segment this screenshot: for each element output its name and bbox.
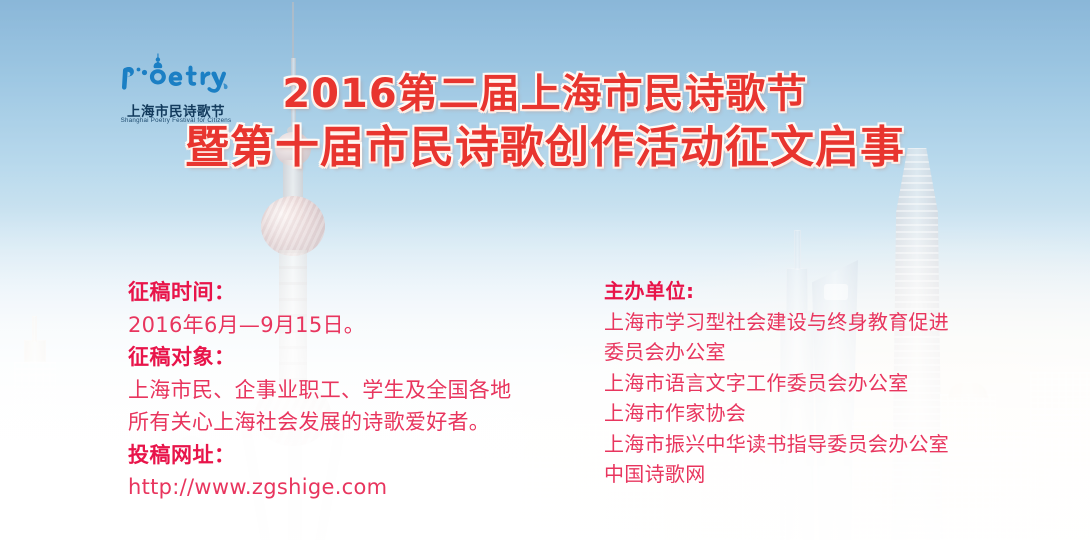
organizers-heading: 主办单位:: [604, 276, 1054, 307]
submission-info-column: 征稿时间： 2016年6月—9月15日。 征稿对象： 上海市民、企事业职工、学生…: [128, 276, 558, 504]
submission-period-value: 2016年6月—9月15日。: [128, 309, 558, 342]
organizer-line: 委员会办公室: [604, 337, 1054, 367]
title-line-2: 暨第十届市民诗歌创作活动征文启事: [0, 123, 1090, 172]
submission-period-heading: 征稿时间：: [128, 276, 558, 309]
title-line-1: 2016第二届上海市民诗歌节: [0, 72, 1090, 117]
organizer-line: 上海市学习型社会建设与终身教育促进: [604, 307, 1054, 337]
submission-audience-line-1: 上海市民、企事业职工、学生及全国各地: [128, 374, 558, 407]
submission-audience-heading: 征稿对象：: [128, 341, 558, 374]
poster-canvas: 上海市民诗歌节 Shanghai Poetry Festival for Cit…: [0, 0, 1090, 540]
submission-audience-line-2: 所有关心上海社会发展的诗歌爱好者。: [128, 406, 558, 439]
organizers-column: 主办单位: 上海市学习型社会建设与终身教育促进 委员会办公室 上海市语言文字工作…: [604, 276, 1054, 489]
submission-website-heading: 投稿网址：: [128, 439, 558, 472]
organizer-line: 中国诗歌网: [604, 459, 1054, 489]
submission-website-url[interactable]: http://www.zgshige.com: [128, 471, 558, 504]
poster-title: 2016第二届上海市民诗歌节 暨第十届市民诗歌创作活动征文启事: [0, 72, 1090, 172]
organizer-line: 上海市作家协会: [604, 398, 1054, 428]
organizer-line: 上海市语言文字工作委员会办公室: [604, 368, 1054, 398]
organizer-line: 上海市振兴中华读书指导委员会办公室: [604, 429, 1054, 459]
